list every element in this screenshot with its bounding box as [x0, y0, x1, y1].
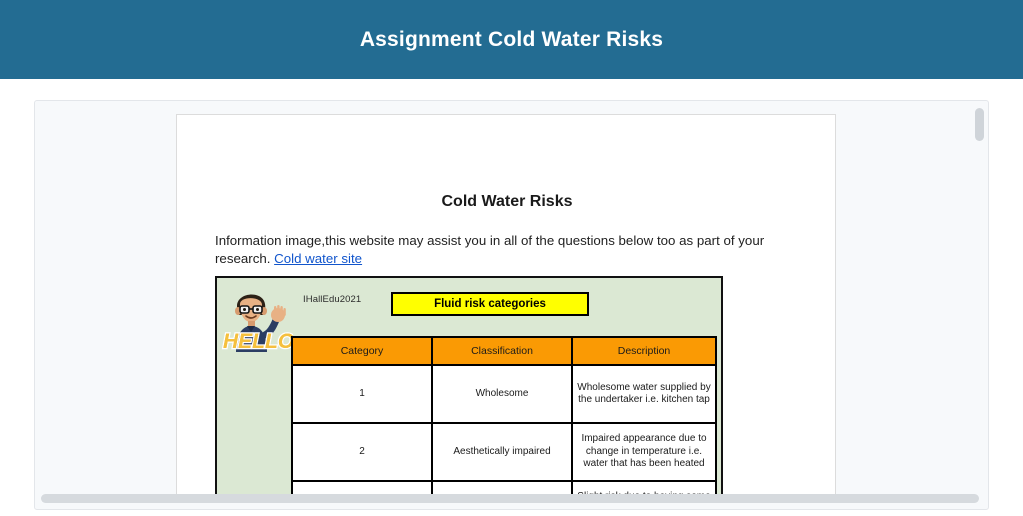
column-header-category: Category: [292, 337, 432, 365]
column-header-description: Description: [572, 337, 716, 365]
fluid-risk-table: Category Classification Description 1 Wh…: [291, 336, 717, 497]
hello-text-icon: HELLO HELLO: [223, 330, 293, 353]
fluid-risk-banner-label: Fluid risk categories: [434, 298, 546, 310]
column-header-classification: Classification: [432, 337, 572, 365]
cell-description: Impaired appearance due to change in tem…: [572, 423, 716, 481]
vertical-scrollbar[interactable]: [973, 103, 986, 507]
page-title: Assignment Cold Water Risks: [360, 28, 663, 52]
svg-text:HELLO: HELLO: [223, 330, 293, 353]
document-paragraph: Information image,this website may assis…: [177, 211, 836, 268]
cell-category: 2: [292, 423, 432, 481]
avatar-illustration-icon: HELLO HELLO: [219, 280, 293, 354]
cell-category: 1: [292, 365, 432, 423]
bitmoji-avatar-icon: HELLO HELLO: [219, 280, 293, 354]
vertical-scrollbar-thumb[interactable]: [975, 108, 984, 141]
document-page: Cold Water Risks Information image,this …: [176, 114, 836, 497]
document-viewer-card: Cold Water Risks Information image,this …: [34, 100, 989, 510]
cell-description: Wholesome water supplied by the undertak…: [572, 365, 716, 423]
horizontal-scrollbar[interactable]: [35, 491, 989, 505]
watermark-label: IHallEdu2021: [303, 294, 361, 305]
app-header: Assignment Cold Water Risks: [0, 0, 1023, 79]
document-heading: Cold Water Risks: [177, 115, 836, 211]
cold-water-site-link[interactable]: Cold water site: [274, 251, 362, 266]
information-image: HELLO HELLO IHallEdu2021 Fluid risk cate…: [215, 276, 723, 497]
cell-classification: Wholesome: [432, 365, 572, 423]
table-header-row: Category Classification Description: [292, 337, 716, 365]
cell-classification: Aesthetically impaired: [432, 423, 572, 481]
document-content: Cold Water Risks Information image,this …: [177, 115, 836, 497]
table-row: 2 Aesthetically impaired Impaired appear…: [292, 423, 716, 481]
table-row: 1 Wholesome Wholesome water supplied by …: [292, 365, 716, 423]
fluid-risk-banner: Fluid risk categories: [391, 292, 589, 316]
horizontal-scrollbar-thumb[interactable]: [41, 494, 979, 503]
